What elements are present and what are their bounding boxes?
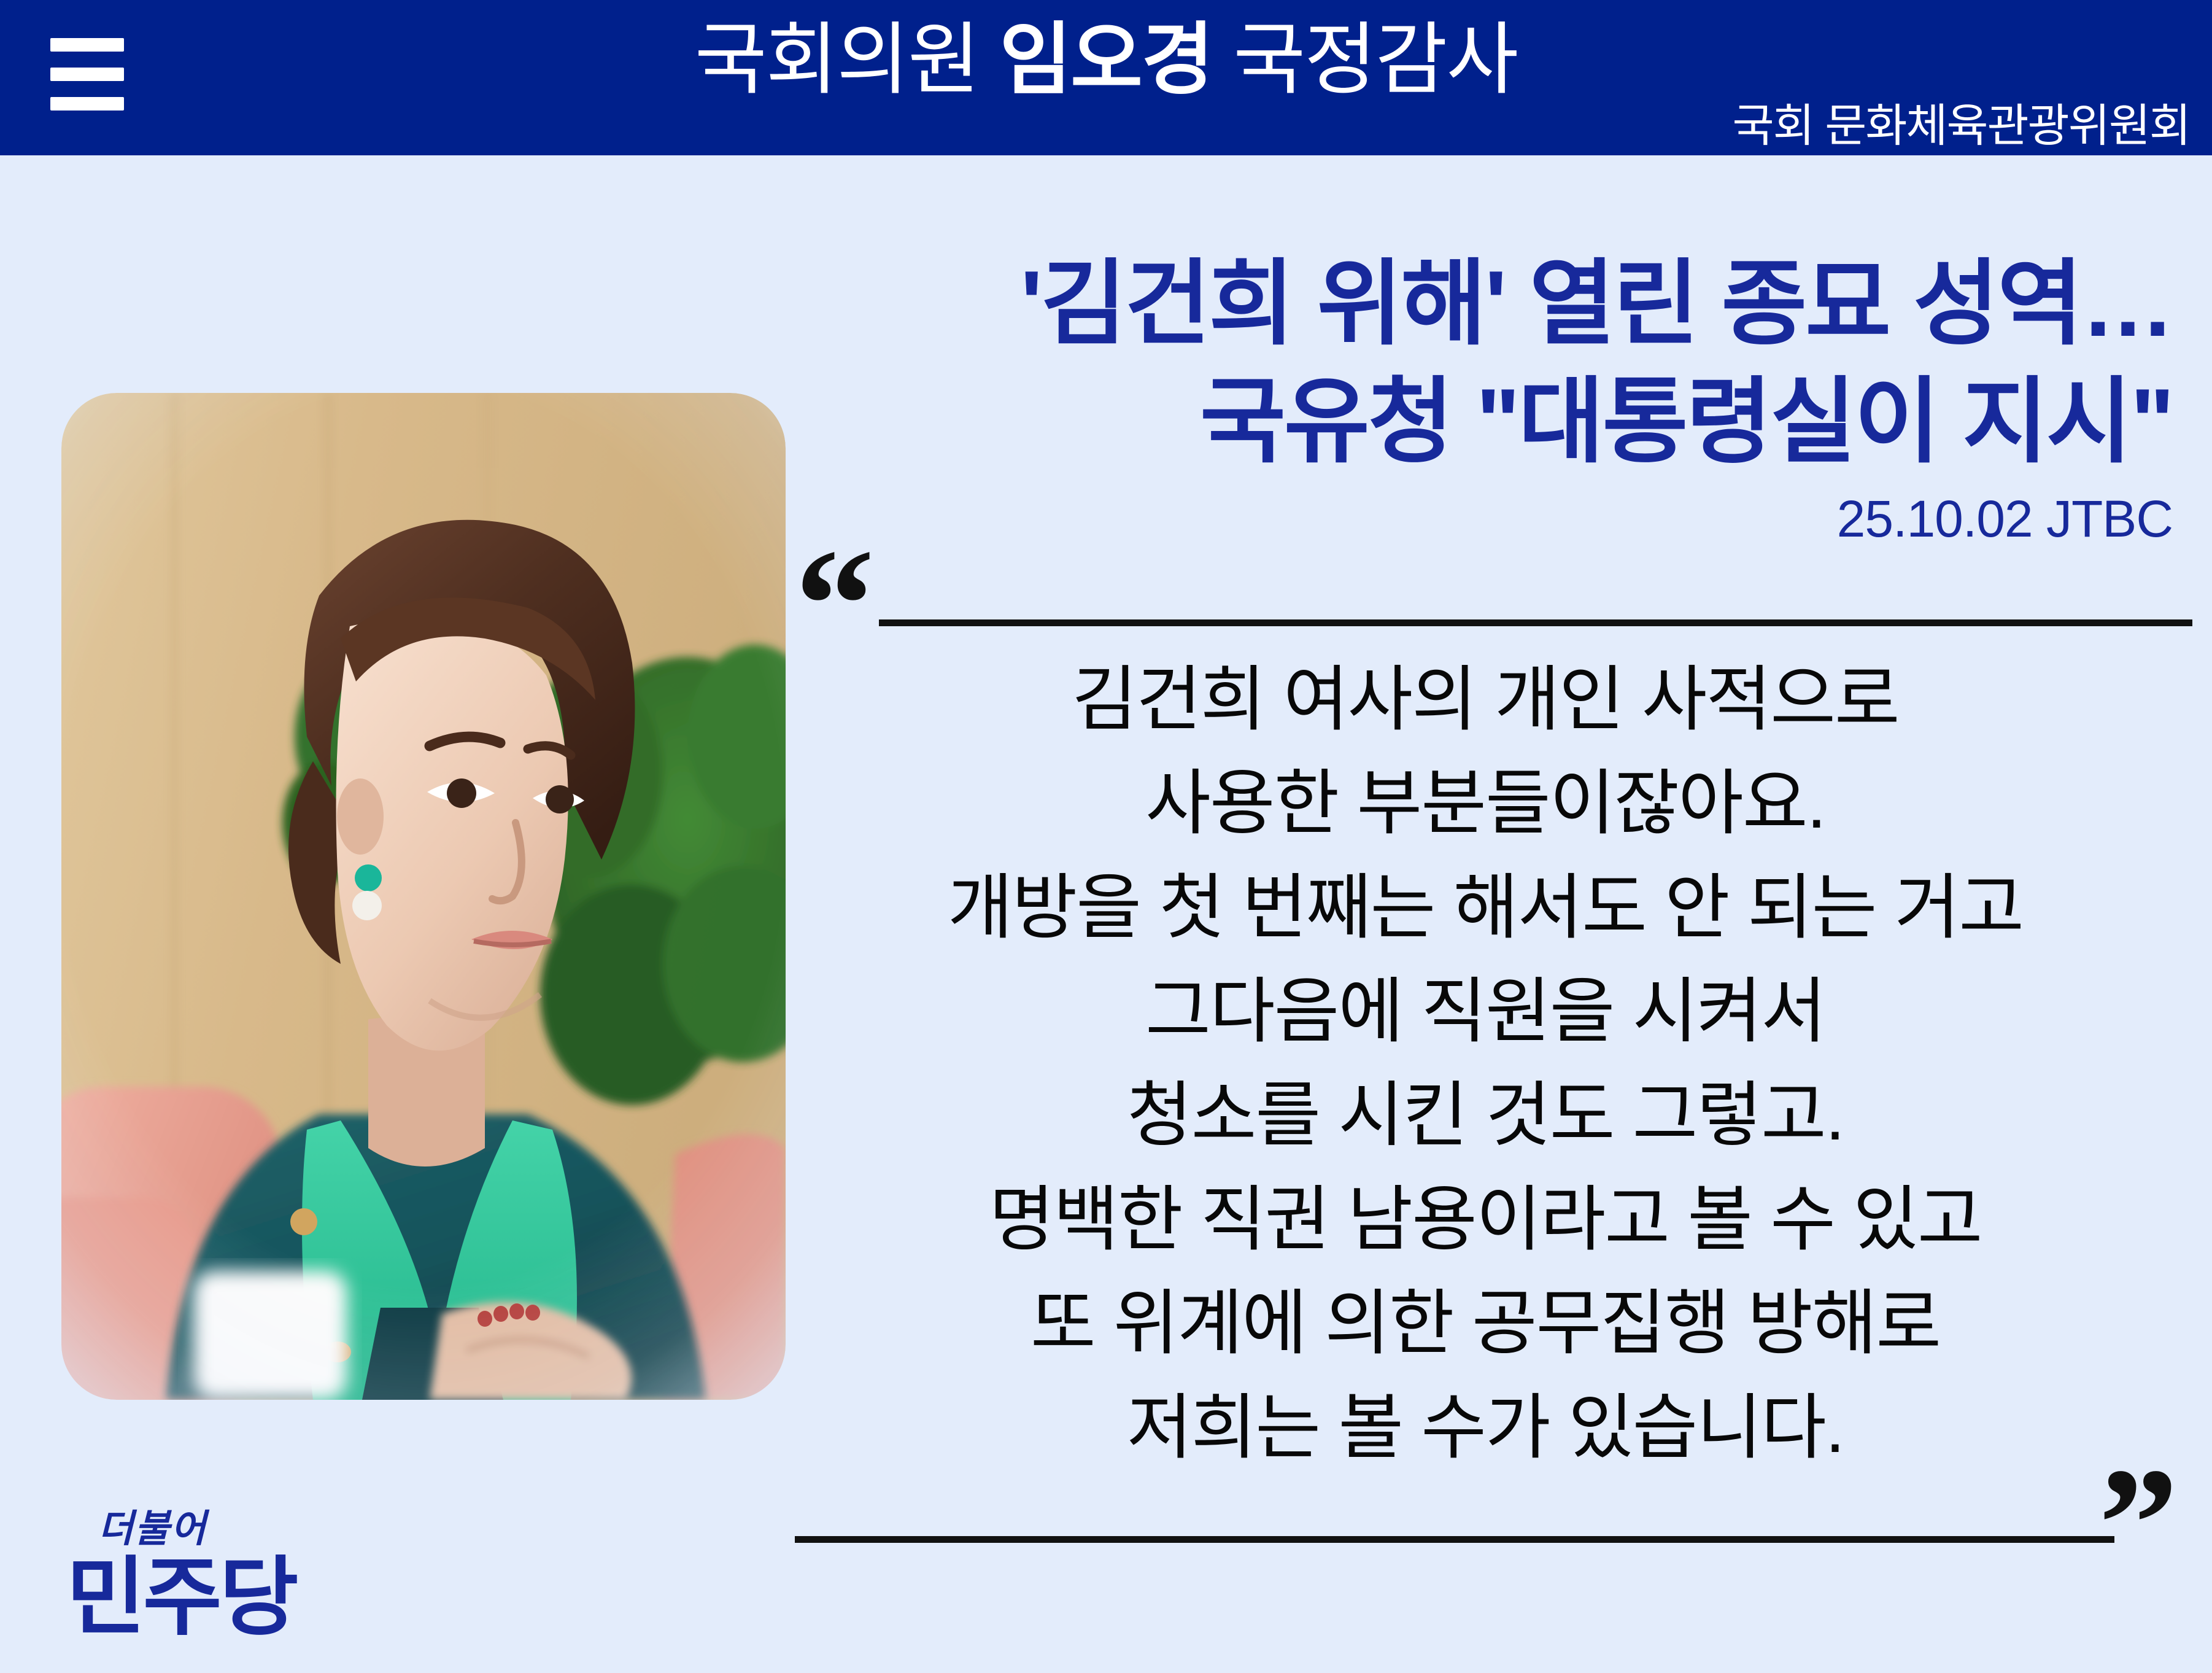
title-suffix: 국정감사 (1213, 16, 1518, 104)
headline-line-1: '김건희 위해' 열린 종묘 성역… (792, 246, 2173, 363)
quote-line: 저희는 볼 수가 있습니다. (792, 1376, 2179, 1480)
committee-label: 국회 문화체육관광위원회 (1733, 89, 2190, 155)
quote-rule-bottom (795, 1536, 2114, 1543)
header-bar: 국회의원 임오경 국정감사 국회 문화체육관광위원회 (0, 0, 2212, 155)
hamburger-menu-icon[interactable] (50, 38, 124, 111)
quote-line: 개방을 첫 번째는 해서도 안 되는 거고 (792, 856, 2179, 960)
quote-line: 김건희 여사의 개인 사적으로 (792, 648, 2179, 751)
quote-line: 또 위계에 의한 공무집행 방해로 (792, 1271, 2179, 1375)
headline-line-2: 국유청 "대통령실이 지시" (792, 363, 2173, 481)
portrait-photo (61, 393, 786, 1400)
quote-close-mark: ” (2098, 1444, 2178, 1604)
headline-source: 25.10.02 JTBC (792, 489, 2173, 549)
quote-line: 그다음에 직원을 시켜서 (792, 960, 2179, 1063)
quote-line: 사용한 부분들이잖아요. (792, 751, 2179, 855)
portrait-photo-graphic (61, 393, 786, 1400)
party-logo: 더불어 민주당 (66, 1510, 324, 1652)
quote-line: 명백한 직권 남용이라고 볼 수 있고 (792, 1168, 2179, 1271)
card-news-image: 국회의원 임오경 국정감사 국회 문화체육관광위원회 (0, 0, 2212, 1673)
hamburger-bar-2 (50, 68, 124, 81)
hamburger-bar-1 (50, 38, 124, 52)
party-logo-main: 민주당 (66, 1552, 324, 1642)
party-logo-script: 더불어 (98, 1510, 324, 1548)
hamburger-bar-3 (50, 97, 124, 111)
title-prefix: 국회의원 (695, 16, 1000, 104)
title-member-name: 임오경 (999, 16, 1212, 104)
headline-block: '김건희 위해' 열린 종묘 성역… 국유청 "대통령실이 지시" 25.10.… (792, 246, 2173, 549)
quote-line: 청소를 시킨 것도 그렇고. (792, 1063, 2179, 1167)
quote-rule-top (879, 619, 2192, 626)
quote-body: 김건희 여사의 개인 사적으로 사용한 부분들이잖아요. 개방을 첫 번째는 해… (792, 648, 2179, 1480)
